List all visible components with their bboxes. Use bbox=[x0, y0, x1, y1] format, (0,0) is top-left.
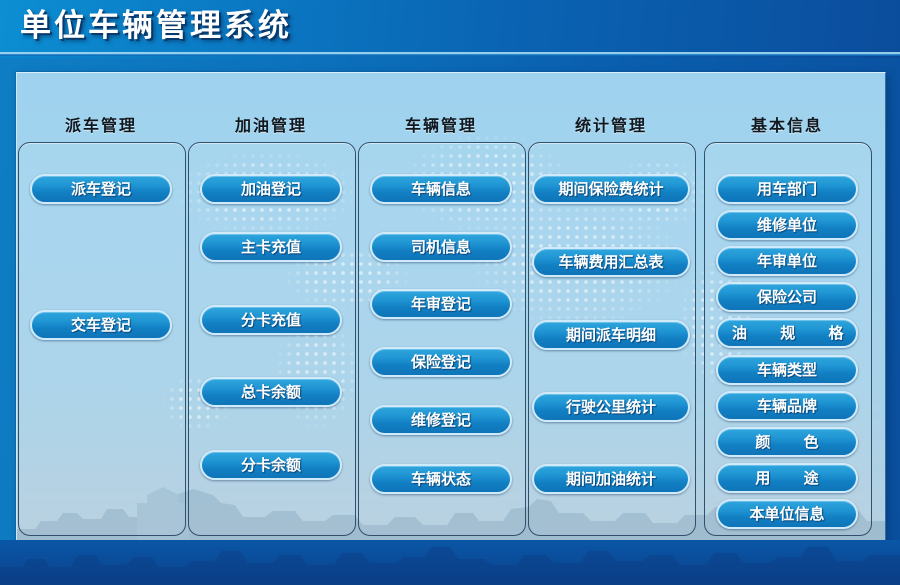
menu-button-statistics-4[interactable]: 期间加油统计 bbox=[532, 464, 690, 494]
module-column-refuel: 加油管理加油登记主卡充值分卡充值总卡余额分卡余额 bbox=[186, 72, 356, 542]
menu-button-basic-info-3[interactable]: 保险公司 bbox=[716, 282, 858, 312]
menu-button-basic-info-7[interactable]: 颜 色 bbox=[716, 427, 858, 457]
menu-button-vehicle-1[interactable]: 司机信息 bbox=[370, 232, 512, 262]
page-title: 单位车辆管理系统 bbox=[20, 4, 292, 48]
module-column-vehicle: 车辆管理车辆信息司机信息年审登记保险登记维修登记车辆状态 bbox=[356, 72, 526, 542]
menu-button-refuel-4[interactable]: 分卡余额 bbox=[200, 450, 342, 480]
menu-button-basic-info-5[interactable]: 车辆类型 bbox=[716, 355, 858, 385]
menu-button-basic-info-6[interactable]: 车辆品牌 bbox=[716, 391, 858, 421]
module-column-dispatch: 派车管理派车登记交车登记 bbox=[16, 72, 186, 542]
menu-button-vehicle-2[interactable]: 年审登记 bbox=[370, 289, 512, 319]
menu-button-basic-info-9[interactable]: 本单位信息 bbox=[716, 499, 858, 529]
column-heading-refuel: 加油管理 bbox=[186, 112, 356, 136]
menu-button-refuel-2[interactable]: 分卡充值 bbox=[200, 305, 342, 335]
menu-button-basic-info-0[interactable]: 用车部门 bbox=[716, 174, 858, 204]
menu-button-basic-info-4[interactable]: 油 规 格 bbox=[716, 318, 858, 348]
menu-button-refuel-3[interactable]: 总卡余额 bbox=[200, 377, 342, 407]
app-header-bar: 单位车辆管理系统 bbox=[0, 0, 900, 52]
menu-button-vehicle-4[interactable]: 维修登记 bbox=[370, 405, 512, 435]
menu-button-dispatch-0[interactable]: 派车登记 bbox=[30, 174, 172, 204]
menu-button-refuel-0[interactable]: 加油登记 bbox=[200, 174, 342, 204]
module-column-basic-info: 基本信息用车部门维修单位年审单位保险公司油 规 格车辆类型车辆品牌颜 色用 途本… bbox=[702, 72, 872, 542]
menu-button-basic-info-2[interactable]: 年审单位 bbox=[716, 246, 858, 276]
menu-button-basic-info-1[interactable]: 维修单位 bbox=[716, 210, 858, 240]
menu-button-statistics-1[interactable]: 车辆费用汇总表 bbox=[532, 247, 690, 277]
menu-button-vehicle-0[interactable]: 车辆信息 bbox=[370, 174, 512, 204]
column-heading-vehicle: 车辆管理 bbox=[356, 112, 526, 136]
column-heading-dispatch: 派车管理 bbox=[16, 112, 186, 136]
column-heading-statistics: 统计管理 bbox=[526, 112, 696, 136]
menu-button-statistics-2[interactable]: 期间派车明细 bbox=[532, 320, 690, 350]
menu-button-vehicle-5[interactable]: 车辆状态 bbox=[370, 464, 512, 494]
menu-button-basic-info-8[interactable]: 用 途 bbox=[716, 463, 858, 493]
menu-button-statistics-0[interactable]: 期间保险费统计 bbox=[532, 174, 690, 204]
column-heading-basic-info: 基本信息 bbox=[702, 112, 872, 136]
menu-button-refuel-1[interactable]: 主卡充值 bbox=[200, 232, 342, 262]
menu-button-vehicle-3[interactable]: 保险登记 bbox=[370, 347, 512, 377]
skyline-silhouette-dark bbox=[0, 537, 900, 585]
menu-button-dispatch-1[interactable]: 交车登记 bbox=[30, 310, 172, 340]
module-columns: 派车管理派车登记交车登记加油管理加油登记主卡充值分卡充值总卡余额分卡余额车辆管理… bbox=[16, 72, 884, 542]
menu-button-statistics-3[interactable]: 行驶公里统计 bbox=[532, 392, 690, 422]
module-column-statistics: 统计管理期间保险费统计车辆费用汇总表期间派车明细行驶公里统计期间加油统计 bbox=[526, 72, 696, 542]
header-divider-shadow bbox=[0, 56, 900, 58]
application-window: 单位车辆管理系统 派车管理派车登记交车登记加油管理加油登记主卡充值分卡充值总卡余… bbox=[0, 0, 900, 585]
